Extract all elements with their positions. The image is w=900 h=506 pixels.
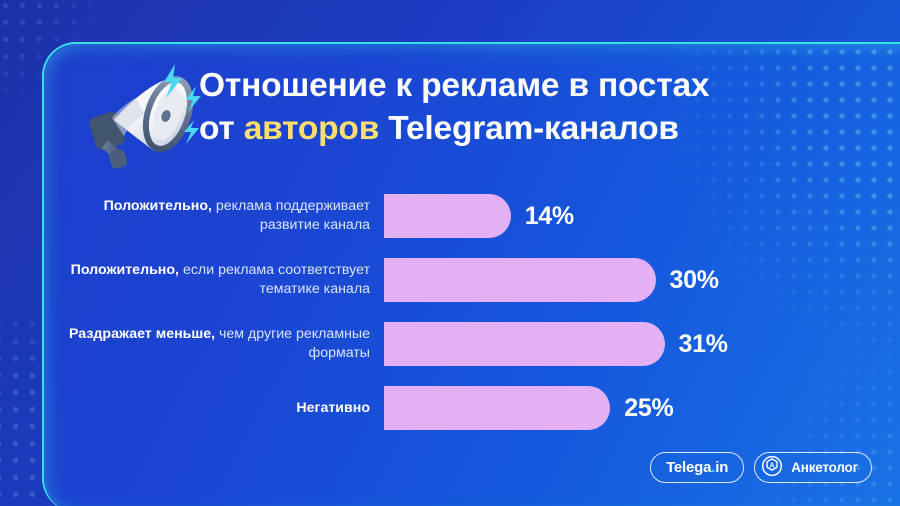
megaphone-icon [74, 58, 206, 174]
anketolog-logo-label: Анкетолог [791, 460, 858, 475]
title-highlight-word: авторов [244, 110, 379, 147]
bar-label: Положительно, если реклама соответствует… [44, 261, 384, 299]
title-line-2-before: от [199, 110, 244, 147]
bar-value-label: 30% [670, 266, 719, 295]
chart-row: Положительно, реклама поддерживает разви… [44, 184, 900, 248]
bar-area: 30% [384, 258, 900, 302]
title-line-2: от авторов Telegram-каналов [199, 107, 839, 150]
bar-fill [384, 386, 610, 430]
bar-label: Раздражает меньше, чем другие рекламные … [44, 325, 384, 363]
content-card: Отношение к рекламе в постах от авторов … [42, 42, 900, 506]
bar-value-label: 25% [624, 394, 673, 423]
bar-label-emphasis: Негативно [296, 400, 370, 416]
title-line-1: Отношение к рекламе в постах [199, 64, 839, 107]
bar-chart: Положительно, реклама поддерживает разви… [44, 184, 900, 440]
bar-fill [384, 258, 656, 302]
bar-area: 31% [384, 322, 900, 366]
bar-label: Негативно [44, 399, 384, 418]
bar-label-rest: чем другие рекламные форматы [215, 326, 370, 361]
header: Отношение к рекламе в постах от авторов … [44, 44, 900, 184]
bar-fill [384, 322, 665, 366]
bar-label-emphasis: Положительно, [71, 262, 179, 278]
chart-row: Негативно 25% [44, 376, 900, 440]
infographic-root: Отношение к рекламе в постах от авторов … [0, 0, 900, 506]
bar-fill [384, 194, 511, 238]
bar-value-label: 14% [525, 202, 574, 231]
footer-logos: Telega.in A Анкетолог [650, 452, 872, 483]
bar-label-emphasis: Раздражает меньше, [69, 326, 215, 342]
page-title: Отношение к рекламе в постах от авторов … [199, 64, 839, 150]
anketolog-a-icon: A [761, 455, 783, 481]
bar-label-emphasis: Положительно, [104, 198, 212, 214]
telega-logo-name: Telega [666, 459, 711, 476]
bar-value-label: 31% [679, 330, 728, 359]
telega-in-logo[interactable]: Telega.in [650, 452, 744, 483]
chart-row: Положительно, если реклама соответствует… [44, 248, 900, 312]
chart-row: Раздражает меньше, чем другие рекламные … [44, 312, 900, 376]
bar-label: Положительно, реклама поддерживает разви… [44, 197, 384, 235]
bar-label-rest: реклама поддерживает развитие канала [212, 198, 370, 233]
bar-area: 14% [384, 194, 900, 238]
svg-text:A: A [770, 462, 775, 469]
telega-logo-tld: in [715, 459, 728, 476]
title-line-2-after: Telegram-каналов [379, 110, 679, 147]
bar-label-rest: если реклама соответствует тематике кана… [179, 262, 370, 297]
anketolog-logo[interactable]: A Анкетолог [754, 452, 872, 483]
bar-area: 25% [384, 386, 900, 430]
